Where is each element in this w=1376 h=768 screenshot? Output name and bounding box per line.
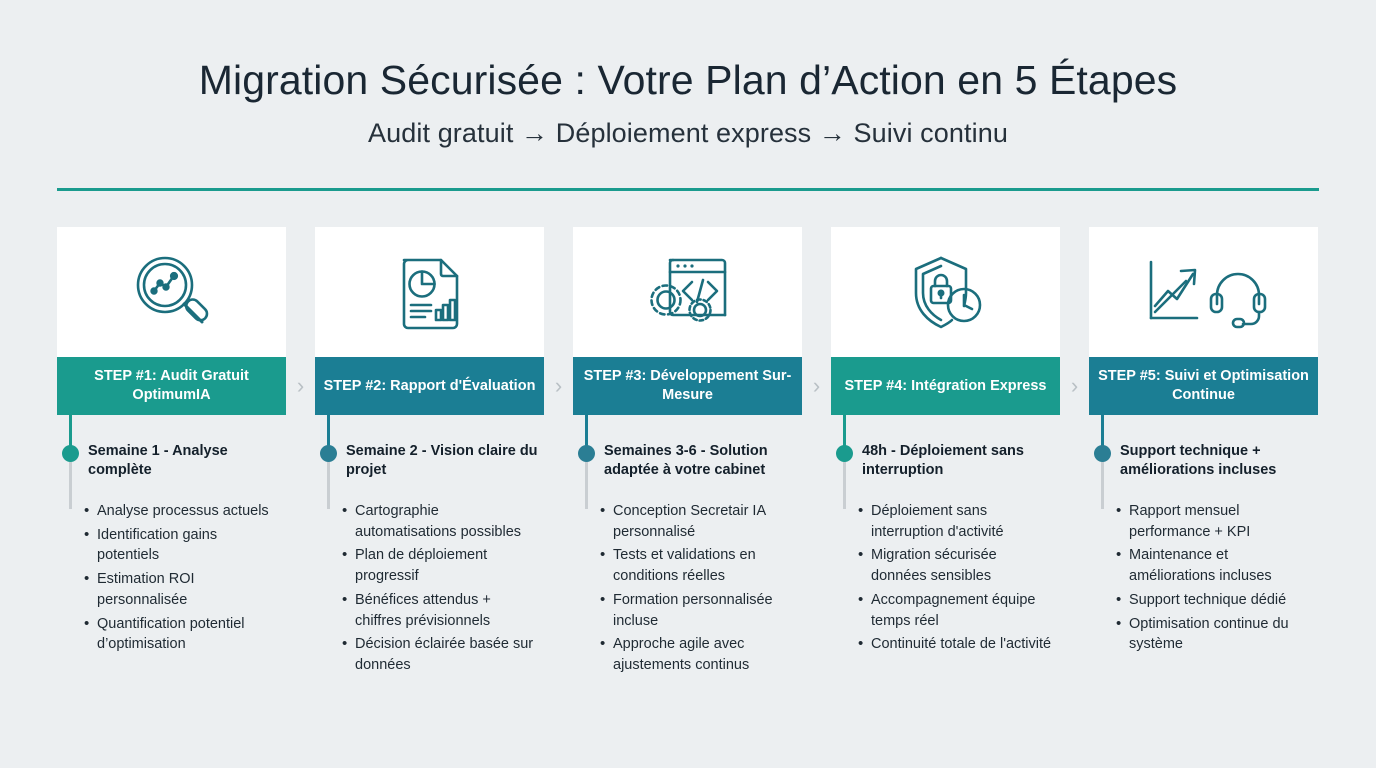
list-item: Maintenance et améliorations incluses <box>1129 545 1314 586</box>
growth-headset-icon <box>1141 248 1267 336</box>
chevron-right-icon-2: › <box>544 357 573 415</box>
list-item: Identification gains potentiels <box>97 525 282 566</box>
step-3-timeline: Semaines 3-6 - Solution adaptée à votre … <box>573 415 802 501</box>
list-item: Migration sécurisée données sensibles <box>871 545 1056 586</box>
timeline-line-top <box>69 415 72 448</box>
list-item: Rapport mensuel performance + KPI <box>1129 501 1314 542</box>
step-5-bullets: Rapport mensuel performance + KPI Mainte… <box>1089 501 1318 655</box>
step-1-bullets: Analyse processus actuels Identification… <box>57 501 286 655</box>
header-divider <box>57 188 1319 191</box>
step-3-icon-panel <box>573 227 802 357</box>
step-1-icon-panel <box>57 227 286 357</box>
step-3-header: STEP #3: Développement Sur-Mesure <box>573 357 802 415</box>
list-item: Plan de déploiement progressif <box>355 545 540 586</box>
chevron-right-icon-3: › <box>802 357 831 415</box>
list-item: Quantification potentiel d’optimisation <box>97 614 282 655</box>
step-5-icon-panel <box>1089 227 1318 357</box>
step-1-timeline-label: Semaine 1 - Analyse complète <box>88 415 286 480</box>
infographic-page: Migration Sécurisée : Votre Plan d’Actio… <box>0 0 1376 768</box>
timeline-dot <box>1094 445 1111 462</box>
step-5-timeline-label: Support technique + améliorations inclus… <box>1120 415 1318 480</box>
step-card-2: STEP #2: Rapport d'Évaluation Semaine 2 … <box>315 227 544 679</box>
step-4-header: STEP #4: Intégration Express <box>831 357 1060 415</box>
chevron-right-icon-4: › <box>1060 357 1089 415</box>
list-item: Estimation ROI personnalisée <box>97 569 282 610</box>
step-1-header: STEP #1: Audit Gratuit OptimumIA <box>57 357 286 415</box>
step-5-header: STEP #5: Suivi et Optimisation Continue <box>1089 357 1318 415</box>
list-item: Bénéfices attendus + chiffres prévisionn… <box>355 590 540 631</box>
list-item: Conception Secretair IA personnalisé <box>613 501 798 542</box>
step-3-bullets: Conception Secretair IA personnalisé Tes… <box>573 501 802 676</box>
timeline-line-top <box>843 415 846 448</box>
list-item: Approche agile avec ajustements continus <box>613 634 798 675</box>
magnifier-chart-icon <box>126 246 218 338</box>
step-1-timeline: Semaine 1 - Analyse complète <box>57 415 286 501</box>
list-item: Continuité totale de l'activité <box>871 634 1056 655</box>
list-item: Décision éclairée basée sur données <box>355 634 540 675</box>
timeline-line-top <box>585 415 588 448</box>
step-2-timeline: Semaine 2 - Vision claire du projet <box>315 415 544 501</box>
list-item: Tests et validations en conditions réell… <box>613 545 798 586</box>
list-item: Formation personnalisée incluse <box>613 590 798 631</box>
step-2-bullets: Cartographie automatisations possibles P… <box>315 501 544 676</box>
list-item: Accompagnement équipe temps réel <box>871 590 1056 631</box>
step-5-timeline: Support technique + améliorations inclus… <box>1089 415 1318 501</box>
timeline-dot <box>320 445 337 462</box>
step-2-timeline-label: Semaine 2 - Vision claire du projet <box>346 415 544 480</box>
timeline-dot <box>836 445 853 462</box>
step-4-bullets: Déploiement sans interruption d'activité… <box>831 501 1060 655</box>
page-title: Migration Sécurisée : Votre Plan d’Actio… <box>0 58 1376 104</box>
step-card-1: STEP #1: Audit Gratuit OptimumIA Semaine… <box>57 227 286 658</box>
step-3-timeline-label: Semaines 3-6 - Solution adaptée à votre … <box>604 415 802 480</box>
header-block: Migration Sécurisée : Votre Plan d’Actio… <box>0 0 1376 149</box>
report-document-icon <box>386 248 474 336</box>
step-4-timeline: 48h - Déploiement sans interruption <box>831 415 1060 501</box>
step-card-5: STEP #5: Suivi et Optimisation Continue … <box>1089 227 1318 658</box>
step-2-icon-panel <box>315 227 544 357</box>
timeline-dot <box>578 445 595 462</box>
list-item: Analyse processus actuels <box>97 501 282 522</box>
code-window-gears-icon <box>642 248 734 336</box>
step-card-3: STEP #3: Développement Sur-Mesure Semain… <box>573 227 802 679</box>
list-item: Cartographie automatisations possibles <box>355 501 540 542</box>
list-item: Déploiement sans interruption d'activité <box>871 501 1056 542</box>
list-item: Support technique dédié <box>1129 590 1314 611</box>
step-4-icon-panel <box>831 227 1060 357</box>
step-card-4: STEP #4: Intégration Express 48h - Déplo… <box>831 227 1060 658</box>
timeline-line-top <box>327 415 330 448</box>
timeline-dot <box>62 445 79 462</box>
page-subtitle: Audit gratuit → Déploiement express → Su… <box>0 118 1376 149</box>
chevron-right-icon-1: › <box>286 357 315 415</box>
list-item: Optimisation continue du système <box>1129 614 1314 655</box>
steps-row: STEP #1: Audit Gratuit OptimumIA Semaine… <box>57 227 1320 679</box>
step-4-timeline-label: 48h - Déploiement sans interruption <box>862 415 1060 480</box>
timeline-line-top <box>1101 415 1104 448</box>
shield-lock-clock-icon <box>900 248 992 336</box>
step-2-header: STEP #2: Rapport d'Évaluation <box>315 357 544 415</box>
